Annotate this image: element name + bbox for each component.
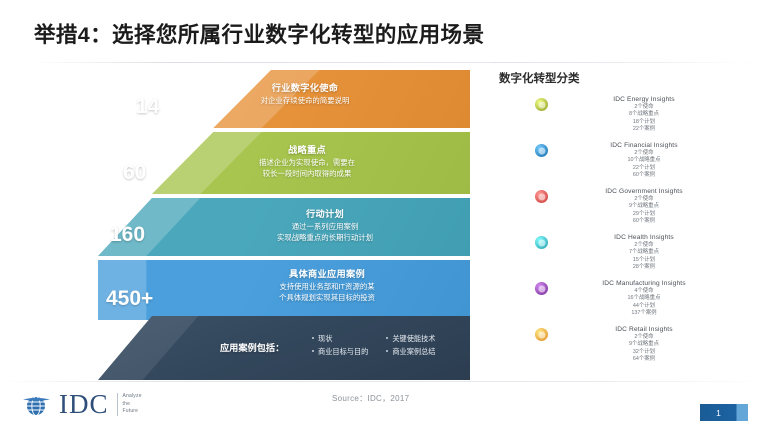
pyramid-tier: 450+具体商业应用案例支持使用业务部和IT资源的某个具体规划实现其目标的投资 (98, 260, 470, 320)
tagline-line: Future (123, 408, 142, 416)
bullet-dot-icon (312, 337, 314, 339)
tier-heading: 具体商业应用案例 (194, 266, 460, 280)
category-stat-line: 9个战略重点 (557, 203, 731, 210)
title-bar: 举措4：选择您所属行业数字化转型的应用场景 (0, 14, 768, 60)
category-name: IDC Energy Insights (557, 96, 731, 103)
pyramid-tier: 14行业数字化使命对企业存续使命的简要说明 (98, 70, 470, 128)
category-stat-line: 60个案例 (557, 172, 731, 179)
category-name: IDC Health Insights (557, 234, 731, 241)
category-item: IDC Manufacturing Insights4个使命16个战略重点44个… (535, 280, 745, 326)
category-panel: 数字化转型分类 IDC Energy Insights2个使命8个战略重点18个… (483, 62, 751, 374)
base-label: 应用案例包括： (220, 340, 284, 354)
tier-content: 行动计划通过一系列应用案例实现战略重点的长期行动计划 (194, 206, 456, 243)
tagline-line: Analyze (123, 393, 142, 401)
panel-title: 数字化转型分类 (499, 70, 580, 86)
tier-count: 160 (110, 224, 145, 245)
base-bullet-text: 现状 (318, 334, 332, 344)
pyramid-tier: 60战略重点描述企业为实现使命，需要在较长一段时间内取得的成果 (98, 132, 470, 194)
category-stat-line: 32个计划 (557, 349, 731, 356)
category-stat-line: 60个案例 (557, 218, 731, 225)
category-stat-line: 16个战略重点 (557, 295, 731, 302)
category-text: IDC Government Insights2个使命9个战略重点29个计划60… (557, 188, 745, 225)
category-name: IDC Retail Insights (557, 326, 731, 333)
category-marker-icon (535, 236, 548, 249)
tier-count: 60 (123, 162, 146, 183)
category-name: IDC Manufacturing Insights (557, 280, 731, 287)
category-marker-icon (535, 282, 548, 295)
pyramid-diagram: 14行业数字化使命对企业存续使命的简要说明60战略重点描述企业为实现使命，需要在… (98, 68, 470, 380)
base-bullet-item: 商业案例总结 (386, 347, 435, 357)
idc-logo: IDC AnalyzetheFuture (22, 391, 142, 418)
category-marker-icon (535, 144, 548, 157)
category-text: IDC Health Insights2个使命7个战略重点15个计划28个案例 (557, 234, 745, 271)
tier-content: 行业数字化使命对企业存续使命的简要说明 (190, 80, 420, 107)
base-bullet-text: 商业目标与目的 (318, 347, 368, 357)
tier-heading: 行动计划 (194, 206, 456, 220)
category-item: IDC Government Insights2个使命9个战略重点29个计划60… (535, 188, 745, 234)
tier-description-line: 支持使用业务部和IT资源的某 (194, 282, 460, 293)
page-number-badge: 1 (700, 404, 748, 421)
category-text: IDC Retail Insights2个使命9个战略重点32个计划64个案例 (557, 326, 745, 363)
category-stat-line: 7个战略重点 (557, 249, 731, 256)
category-stat-line: 9个战略重点 (557, 341, 731, 348)
source-note: Source：IDC，2017 (332, 393, 409, 404)
tier-description-line: 通过一系列应用案例 (194, 222, 456, 233)
category-stat-line: 44个计划 (557, 303, 731, 310)
footer-divider (0, 381, 768, 382)
base-bullet-item: 商业目标与目的 (312, 347, 368, 357)
tier-count: 14 (136, 96, 159, 117)
category-stat-line: 22个计划 (557, 165, 731, 172)
base-bullet-item: 关键使能技术 (386, 334, 435, 344)
bullet-dot-icon (312, 350, 314, 352)
tier-description-line: 实现战略重点的长期行动计划 (194, 233, 456, 244)
category-item: IDC Health Insights2个使命7个战略重点15个计划28个案例 (535, 234, 745, 280)
category-marker-icon (535, 190, 548, 203)
category-stat-line: 8个战略重点 (557, 111, 731, 118)
bullet-dot-icon (386, 350, 388, 352)
tier-content: 具体商业应用案例支持使用业务部和IT资源的某个具体规划实现其目标的投资 (194, 266, 460, 303)
idc-wordmark: IDC (59, 391, 109, 418)
category-list: IDC Energy Insights2个使命8个战略重点18个计划22个案例I… (535, 96, 745, 372)
panel-divider (491, 62, 741, 63)
base-bullet-text: 关键使能技术 (392, 334, 435, 344)
category-stat-line: 137个案例 (557, 310, 731, 317)
base-bullet-column: 关键使能技术商业案例总结 (386, 334, 435, 357)
tagline-line: the (123, 401, 142, 409)
category-text: IDC Financial Insights2个使命10个战略重点22个计划60… (557, 142, 745, 179)
category-stat-line: 29个计划 (557, 211, 731, 218)
category-name: IDC Financial Insights (557, 142, 731, 149)
category-item: IDC Energy Insights2个使命8个战略重点18个计划22个案例 (535, 96, 745, 142)
pyramid-base: 应用案例包括：现状商业目标与目的关键使能技术商业案例总结 (98, 316, 470, 380)
base-bullet-item: 现状 (312, 334, 368, 344)
category-stat-line: 10个战略重点 (557, 157, 731, 164)
category-stat-line: 18个计划 (557, 119, 731, 126)
idc-tagline: AnalyzetheFuture (117, 393, 142, 416)
base-bullet-text: 商业案例总结 (392, 347, 435, 357)
tier-description-line: 较长一段时间内取得的成果 (178, 169, 436, 180)
category-marker-icon (535, 328, 548, 341)
category-marker-icon (535, 98, 548, 111)
category-stat-line: 15个计划 (557, 257, 731, 264)
tier-count: 450+ (106, 288, 153, 309)
tier-content: 战略重点描述企业为实现使命，需要在较长一段时间内取得的成果 (178, 142, 436, 179)
page-title: 举措4：选择您所属行业数字化转型的应用场景 (34, 18, 484, 49)
base-bullet-columns: 现状商业目标与目的关键使能技术商业案例总结 (312, 334, 435, 357)
tier-description-line: 个具体规划实现其目标的投资 (194, 293, 460, 304)
category-stat-line: 28个案例 (557, 264, 731, 271)
globe-icon (22, 392, 52, 418)
tier-heading: 行业数字化使命 (190, 80, 420, 94)
category-text: IDC Manufacturing Insights4个使命16个战略重点44个… (557, 280, 745, 317)
category-text: IDC Energy Insights2个使命8个战略重点18个计划22个案例 (557, 96, 745, 133)
base-bullet-column: 现状商业目标与目的 (312, 334, 368, 357)
category-stat-line: 22个案例 (557, 126, 731, 133)
category-item: IDC Retail Insights2个使命9个战略重点32个计划64个案例 (535, 326, 745, 372)
category-stat-line: 64个案例 (557, 356, 731, 363)
bullet-dot-icon (386, 337, 388, 339)
tier-description-line: 描述企业为实现使命，需要在 (178, 158, 436, 169)
pyramid-tier: 160行动计划通过一系列应用案例实现战略重点的长期行动计划 (98, 198, 470, 256)
slide-canvas: 举措4：选择您所属行业数字化转型的应用场景 14行业数字化使命对企业存续使命的简… (0, 0, 768, 432)
tier-heading: 战略重点 (178, 142, 436, 156)
tier-description-line: 对企业存续使命的简要说明 (190, 96, 420, 107)
category-item: IDC Financial Insights2个使命10个战略重点22个计划60… (535, 142, 745, 188)
category-name: IDC Government Insights (557, 188, 731, 195)
